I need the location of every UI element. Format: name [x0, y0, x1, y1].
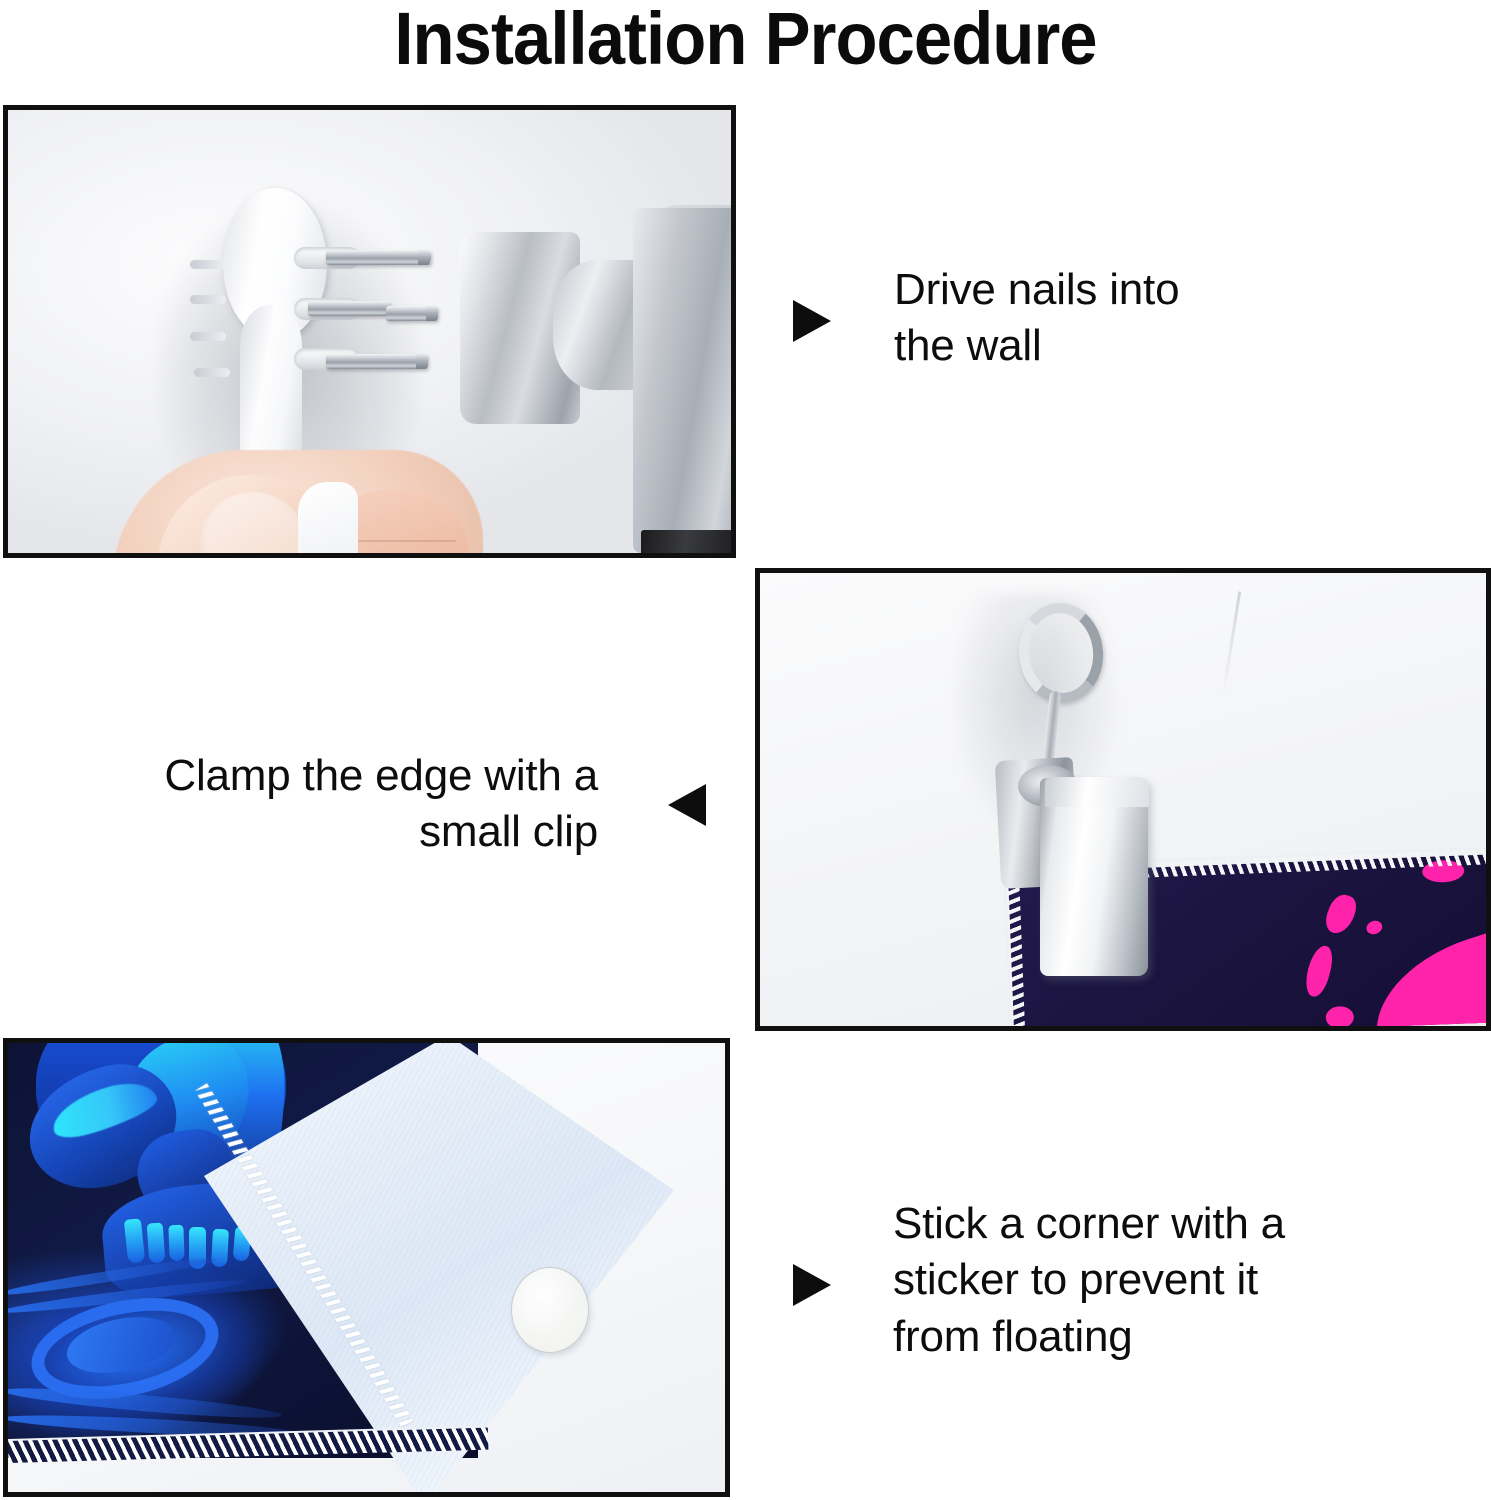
clip-lip	[1045, 777, 1149, 807]
hook-ridge	[190, 332, 226, 341]
step-image-clamp-edge	[755, 568, 1491, 1031]
hook-tip-foreground	[298, 482, 358, 553]
drive-nails-photo	[8, 110, 731, 553]
nail-tip	[418, 250, 430, 265]
nail	[326, 354, 428, 369]
caption-line: from floating	[893, 1309, 1373, 1365]
caption-line: sticker to prevent it	[893, 1252, 1373, 1308]
page-title: Installation Procedure	[52, 2, 1439, 76]
nail	[308, 301, 390, 316]
hook-ridge	[190, 295, 226, 304]
clamp-edge-photo	[760, 573, 1486, 1026]
skull-tooth	[147, 1222, 166, 1263]
pink-splatter	[1365, 919, 1385, 937]
caption-line: the wall	[894, 318, 1324, 374]
round-clear-sticker	[511, 1267, 589, 1353]
hook-ridge	[190, 260, 226, 269]
step-image-stick-corner	[3, 1038, 730, 1497]
caption-line: Drive nails into	[894, 262, 1324, 318]
skull-tooth	[211, 1229, 229, 1268]
arrow-triangle-right-icon	[793, 1264, 831, 1306]
step-caption-drive-nails: Drive nails into the wall	[894, 262, 1324, 375]
hammer-head	[633, 208, 731, 553]
pink-splatter	[1302, 943, 1336, 999]
nail	[326, 250, 431, 265]
caption-line: Clamp the edge with a	[78, 748, 598, 804]
step-caption-clamp-edge: Clamp the edge with a small clip	[78, 748, 598, 861]
pink-splatter	[1325, 1006, 1354, 1026]
arrow-triangle-left-icon	[668, 784, 706, 826]
nail-tip	[426, 306, 438, 321]
caption-line: small clip	[78, 804, 598, 860]
arrow-triangle-right-icon	[793, 300, 831, 342]
hammer-collar-band	[641, 530, 731, 553]
step-image-drive-nails	[3, 105, 736, 558]
step-caption-stick-corner: Stick a corner with a sticker to prevent…	[893, 1196, 1373, 1365]
skull-tooth	[168, 1225, 184, 1262]
nail-tip	[416, 354, 428, 369]
stick-corner-photo	[8, 1043, 725, 1492]
metal-spring-clip	[1040, 778, 1148, 976]
pink-splatter	[1322, 891, 1360, 937]
hook-ridge	[194, 368, 230, 377]
caption-line: Stick a corner with a	[893, 1196, 1373, 1252]
installation-procedure-infographic: Installation Procedure	[0, 0, 1491, 1500]
